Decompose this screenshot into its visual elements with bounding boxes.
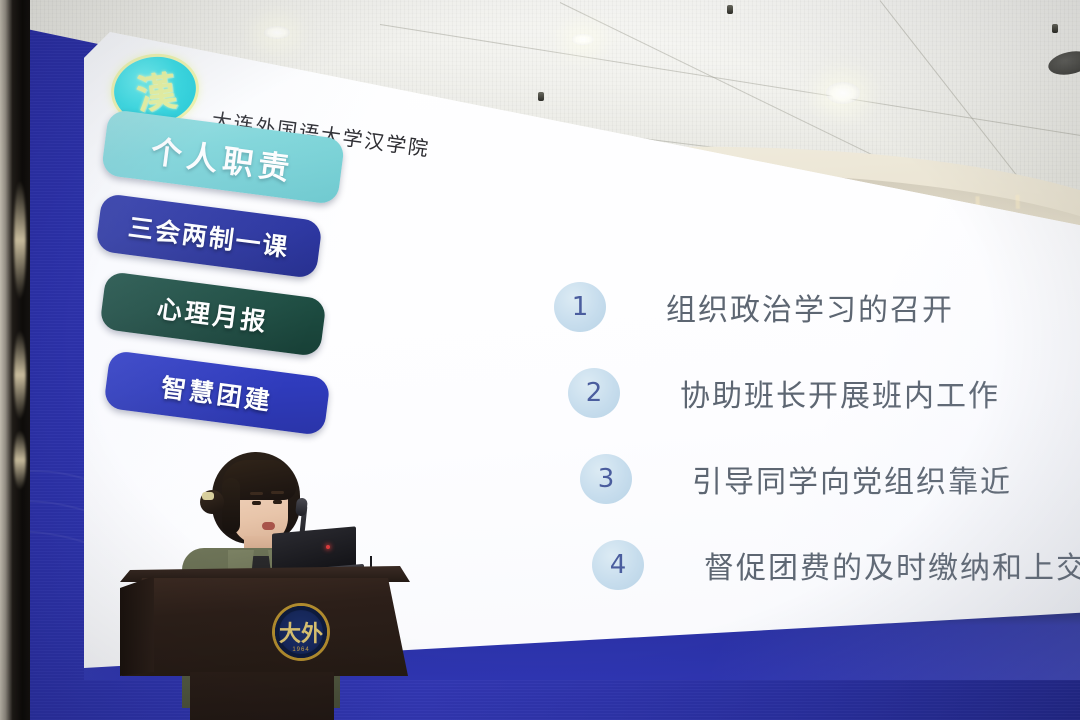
- microphone-status-led: [326, 545, 330, 549]
- sidebar-item-label: 心理月报: [155, 289, 271, 339]
- list-item-number: 3: [580, 454, 632, 504]
- responsibility-list: 1 组织政治学习的召开 2 协助班长开展班内工作 3 引导同学向党组织靠近 4 …: [554, 282, 1080, 626]
- presentation-photo: 漢 大连外国语大学汉学院 个人职责 三会两制一课 心理月报 智慧团建 1 组织政…: [0, 0, 1080, 720]
- presenter-hair-side: [222, 478, 240, 534]
- sidebar-item-label: 智慧团建: [159, 368, 275, 418]
- ceiling-downlight: [264, 26, 290, 39]
- list-item: 3 引导同学向党组织靠近: [580, 454, 1080, 504]
- list-item-number: 1: [554, 282, 606, 332]
- lectern-front-panel: [120, 578, 410, 676]
- sprinkler-head-icon: [727, 5, 733, 14]
- sprinkler-head-icon: [1052, 24, 1058, 33]
- wall-edge-highlight: [14, 430, 26, 490]
- list-item-number: 4: [592, 540, 644, 590]
- list-item-text: 引导同学向党组织靠近: [692, 457, 1012, 501]
- ceiling-downlight: [826, 82, 860, 104]
- presenter-eye: [273, 500, 282, 504]
- lectern-base: [190, 672, 334, 720]
- list-item-number: 2: [568, 368, 620, 418]
- presenter-eyebrow: [250, 492, 263, 495]
- sidebar-item-label: 个人职责: [149, 125, 298, 188]
- lectern: 大外 1964: [120, 560, 410, 720]
- list-item: 4 督促团费的及时缴纳和上交: [592, 540, 1080, 590]
- presenter-mouth: [262, 522, 275, 530]
- ceiling-downlight: [572, 34, 594, 45]
- list-item: 1 组织政治学习的召开: [554, 282, 1080, 332]
- list-item-text: 组织政治学习的召开: [666, 285, 954, 329]
- wall-edge-highlight: [14, 330, 26, 420]
- presenter-eye: [252, 501, 261, 505]
- sprinkler-head-icon: [538, 92, 544, 101]
- seal-year: 1964: [275, 647, 327, 653]
- sidebar-item-label: 三会两制一课: [126, 208, 291, 265]
- presenter-eyebrow: [271, 491, 284, 494]
- presenter-hair-clip: [202, 492, 214, 500]
- list-item-text: 协助班长开展班内工作: [680, 371, 1000, 415]
- list-item: 2 协助班长开展班内工作: [568, 368, 1080, 418]
- lectern-side-panel: [120, 576, 154, 676]
- list-item-text: 督促团费的及时缴纳和上交: [704, 543, 1080, 587]
- university-seal-icon: 大外 1964: [275, 606, 327, 658]
- wall-edge-highlight: [14, 180, 26, 300]
- room-wall-edge: [0, 0, 30, 720]
